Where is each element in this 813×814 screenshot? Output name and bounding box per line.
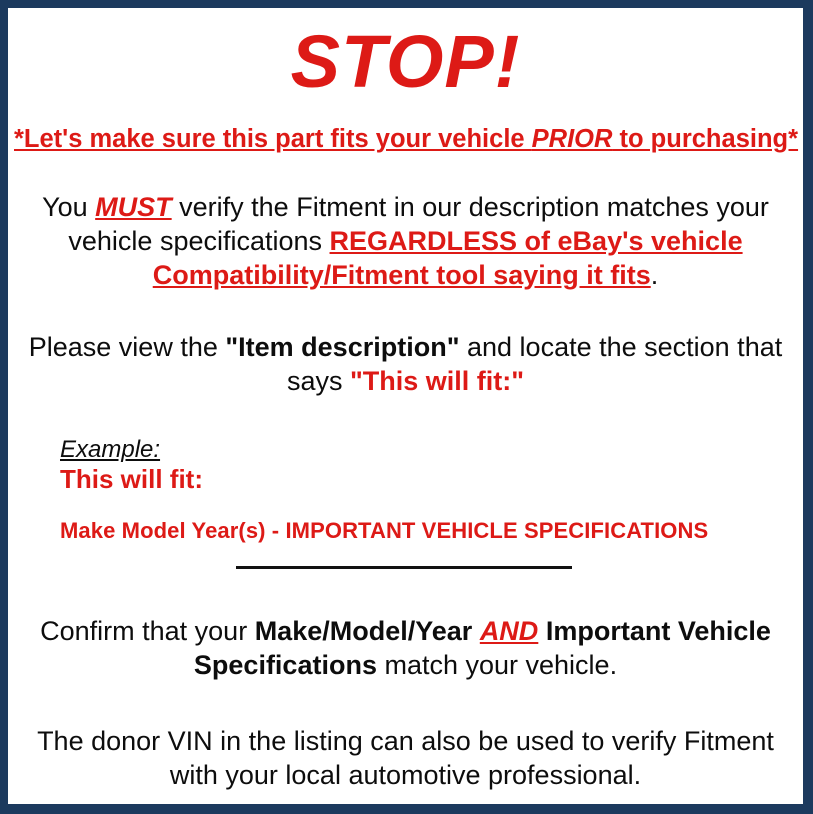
example-label: Example:: [60, 436, 160, 464]
confirm-space-2: [538, 616, 546, 646]
emphasis-item-description: "Item description": [225, 332, 459, 362]
view-text-1: Please view the: [29, 332, 226, 362]
subtitle-text-after: to purchasing*: [612, 125, 798, 153]
subtitle-emphasis-prior: PRIOR: [532, 125, 613, 153]
horizontal-divider: [236, 566, 572, 569]
closing-thank-you: Thank you for confirming Fitment!: [14, 792, 797, 814]
notice-inner: STOP! *Let's make sure this part fits yo…: [8, 8, 803, 804]
paragraph-view-description: Please view the "Item description" and l…: [14, 292, 797, 398]
emphasis-this-will-fit: "This will fit:": [350, 366, 524, 396]
emphasis-make-model-year: Make/Model/Year: [255, 616, 473, 646]
page-title: STOP!: [14, 8, 797, 102]
paragraph-confirm-match: Confirm that your Make/Model/Year AND Im…: [14, 586, 797, 682]
paragraph-donor-vin: The donor VIN in the listing can also be…: [14, 682, 797, 792]
subtitle-text-before: *Let's make sure this part fits your veh…: [14, 125, 532, 153]
example-fit-heading: This will fit:: [60, 464, 797, 494]
confirm-text-1: Confirm that your: [40, 616, 255, 646]
fitment-notice-card: STOP! *Let's make sure this part fits yo…: [0, 0, 813, 814]
confirm-space-1: [472, 616, 480, 646]
example-block: Example: This will fit: Make Model Year(…: [14, 398, 797, 544]
divider-wrapper: [14, 544, 797, 586]
emphasis-and: AND: [480, 616, 539, 646]
verify-text-1: You: [42, 192, 95, 222]
emphasis-must: MUST: [95, 192, 172, 222]
confirm-text-3: match your vehicle.: [377, 650, 617, 680]
subtitle-banner: *Let's make sure this part fits your veh…: [14, 102, 797, 154]
paragraph-verify-fitment: You MUST verify the Fitment in our descr…: [14, 154, 797, 292]
example-spec-line: Make Model Year(s) - IMPORTANT VEHICLE S…: [60, 494, 797, 544]
verify-text-3: .: [651, 260, 659, 290]
